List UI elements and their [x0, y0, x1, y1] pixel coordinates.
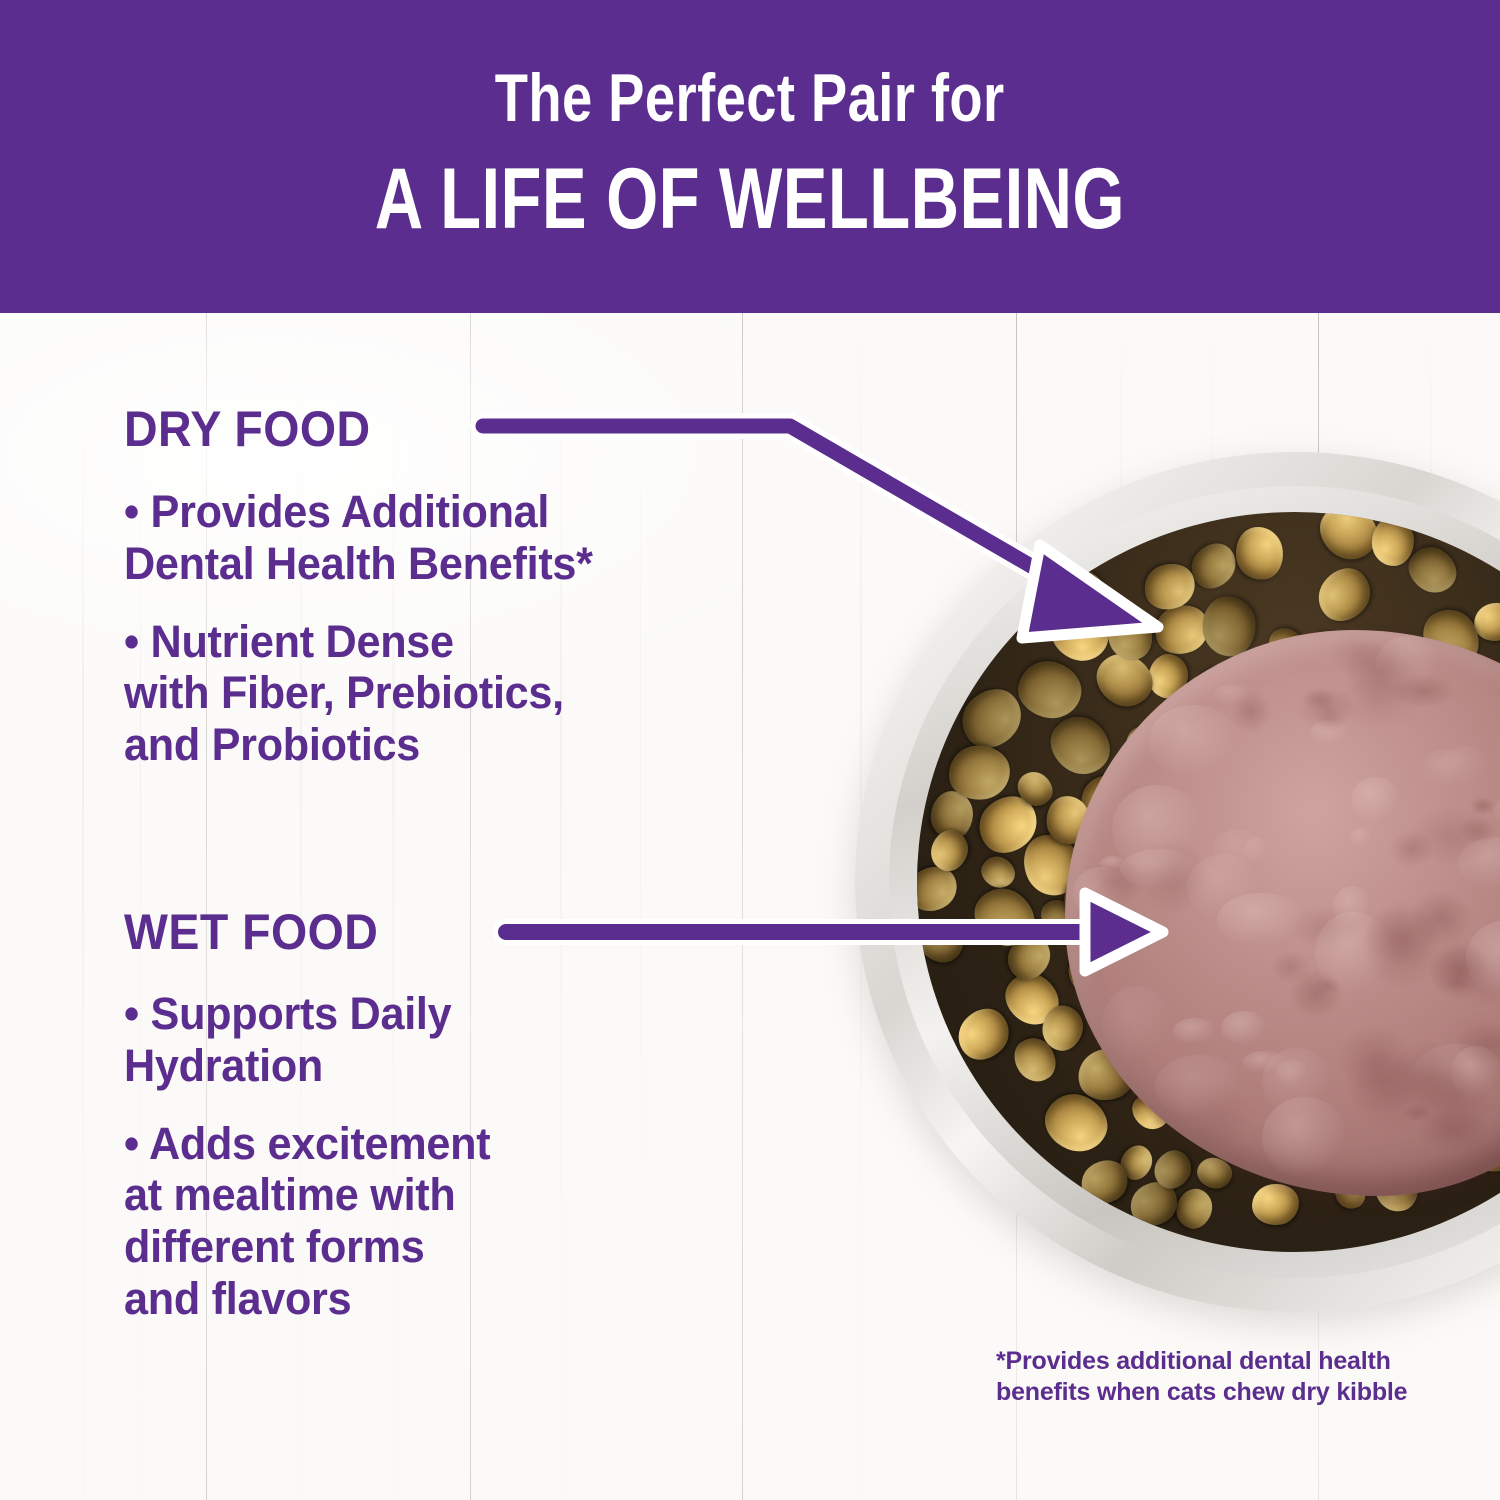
plank-divider [1016, 313, 1017, 1500]
header-banner: The Perfect Pair for A LIFE OF WELLBEING [0, 0, 1500, 313]
dry-food-bullet-list: • Provides Additional Dental Health Bene… [124, 486, 824, 797]
bullet-line: with Fiber, Prebiotics, [124, 667, 796, 719]
bullet-line: and Probiotics [124, 719, 796, 771]
wood-grain [1210, 313, 1213, 1500]
list-item: • Nutrient Dense with Fiber, Prebiotics,… [124, 616, 796, 771]
wood-grain [1120, 313, 1122, 1500]
bullet-line: • Adds excitement [124, 1118, 796, 1170]
header-title-line2: A LIFE OF WELLBEING [375, 156, 1125, 242]
bullet-line: • Nutrient Dense [124, 616, 796, 668]
bullet-line: and flavors [124, 1273, 796, 1325]
wet-food-bullet-list: • Supports Daily Hydration • Adds excite… [124, 988, 824, 1351]
wet-food-heading: WET FOOD [124, 903, 378, 961]
footnote-disclaimer: *Provides additional dental health benef… [996, 1346, 1426, 1407]
plank-divider [1318, 313, 1319, 1500]
wood-grain [1430, 313, 1432, 1500]
footnote-line1: *Provides additional dental health [996, 1346, 1426, 1377]
list-item: • Adds excitement at mealtime with diffe… [124, 1118, 796, 1325]
footnote-line2: benefits when cats chew dry kibble [996, 1377, 1426, 1408]
bullet-line: Dental Health Benefits* [124, 538, 796, 590]
header-title-line1: The Perfect Pair for [495, 64, 1005, 132]
dry-food-heading: DRY FOOD [124, 400, 371, 458]
bullet-line: different forms [124, 1221, 796, 1273]
bullet-line: at mealtime with [124, 1169, 796, 1221]
bullet-line: • Supports Daily [124, 988, 796, 1040]
bullet-line: • Provides Additional [124, 486, 796, 538]
list-item: • Supports Daily Hydration [124, 988, 796, 1092]
wood-grain [860, 313, 862, 1500]
list-item: • Provides Additional Dental Health Bene… [124, 486, 796, 590]
bullet-line: Hydration [124, 1040, 796, 1092]
wood-grain [82, 313, 84, 1500]
